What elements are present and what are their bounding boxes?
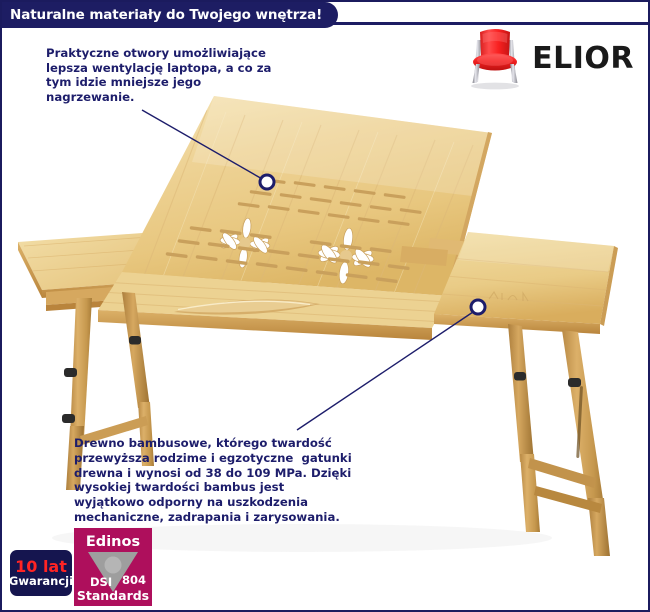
brand-logo: ELIOR xyxy=(464,26,634,92)
callout-text-bamboo-hardness: Drewno bambusowe, którego twardość przew… xyxy=(74,436,374,525)
certification-badge-edinos: Edinos DSI 804 Standards xyxy=(74,528,152,606)
callout-line: wyjątkowo odporny na uszkodzenia xyxy=(74,495,374,510)
leg-right-front xyxy=(562,330,610,556)
callout-line: tym idzie mniejsze jego xyxy=(46,75,296,90)
callout-line: wysokiej twardości bambus jest xyxy=(74,480,374,495)
header-banner-text: Naturalne materiały do Twojego wnętrza! xyxy=(10,7,322,23)
certification-code-left: DSI xyxy=(90,575,112,589)
leg-adjust-knob xyxy=(568,378,581,387)
callout-line: nagrzewanie. xyxy=(46,90,296,105)
infographic-page: Naturalne materiały do Twojego wnętrza! xyxy=(0,0,650,612)
leg-adjust-knob xyxy=(62,414,75,423)
leg-adjust-knob xyxy=(129,336,141,345)
brand-name: ELIOR xyxy=(532,44,634,74)
callout-line: drewna i wynosi od 38 do 109 MPa. Dzięki xyxy=(74,466,374,481)
leg-adjust-knob xyxy=(64,368,77,377)
callout-line: Drewno bambusowe, którego twardość xyxy=(74,436,374,451)
certification-label: Standards xyxy=(77,588,149,603)
callout-line: przewyższa rodzime i egzotyczne gatunki xyxy=(74,451,374,466)
callout-text-ventilation: Praktyczne otwory umożliwiające lepsza w… xyxy=(46,46,296,104)
warranty-label: Gwarancji xyxy=(9,575,73,588)
warranty-badge: 10 lat Gwarancji xyxy=(10,550,72,596)
funnel-mark-circle xyxy=(105,557,122,574)
certification-brand: Edinos xyxy=(86,534,140,550)
leg-right-rear xyxy=(508,324,540,532)
callout-line: lepsza wentylację laptopa, a co za xyxy=(46,61,296,76)
leg-adjust-knob xyxy=(514,372,526,381)
callout-line: mechaniczne, zadrapania i zarysowania. xyxy=(74,510,374,525)
callout-line: Praktyczne otwory umożliwiające xyxy=(46,46,296,61)
warranty-years: 10 lat xyxy=(15,558,67,575)
header-banner: Naturalne materiały do Twojego wnętrza! xyxy=(0,2,338,28)
certification-code-right: 804 xyxy=(122,573,146,587)
red-chair-icon xyxy=(464,26,526,92)
